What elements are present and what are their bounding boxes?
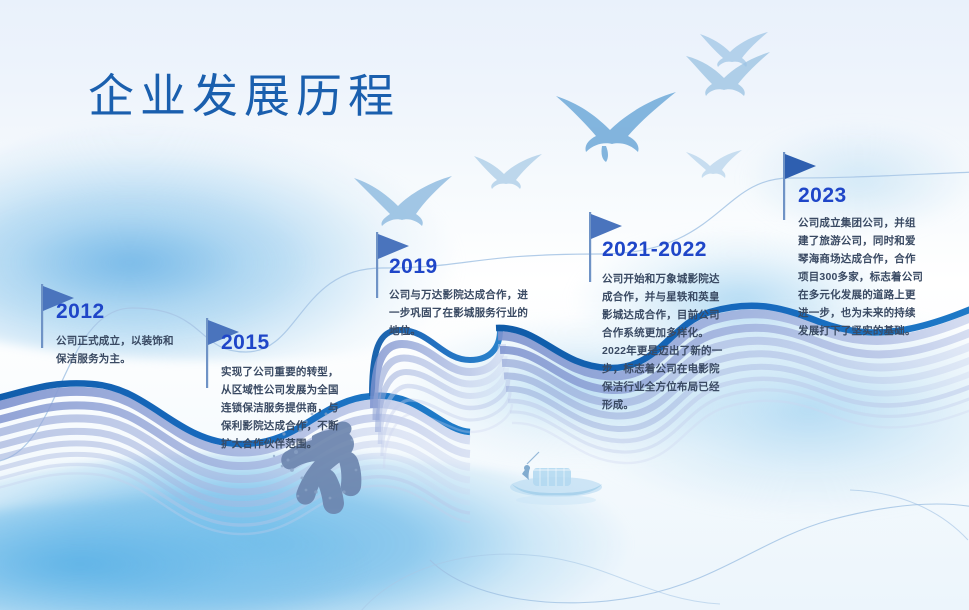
mountain-wash-bottom-left-inner: [0, 500, 500, 610]
seagull-icon-small-left: [474, 154, 542, 189]
milestone-year-2019: 2019: [389, 255, 438, 279]
milestone-description-2021-2022: 公司开始和万象城影院达成合作，并与星轶和英皇影城达成合作，目前公司合作系统更加多…: [602, 270, 730, 414]
milestone-description-2015: 实现了公司重要的转型，从区域性公司发展为全国连锁保洁服务提供商，与保利影院达成合…: [221, 363, 349, 453]
mountain-wash-bottom-left: [0, 452, 740, 610]
seagull-icon-top-right: [700, 32, 768, 67]
milestone-description-2019: 公司与万达影院达成合作，进一步巩固了在影城服务行业的地位。: [389, 286, 531, 340]
milestone-description-2023: 公司成立集团公司，并组建了旅游公司，同时和爱琴海商场达成合作，合作项目300多家…: [798, 214, 926, 340]
seagull-icon-upper-right: [686, 52, 770, 96]
milestone-year-2012: 2012: [56, 300, 105, 324]
milestone-year-2023: 2023: [798, 184, 847, 208]
timeline-poster: 企业发展历程 2012 公司正式成立，以装饰和保洁服务为主。 2015 实现了公…: [0, 0, 969, 610]
page-title: 企业发展历程: [88, 60, 400, 126]
milestone-description-2012: 公司正式成立，以装饰和保洁服务为主。: [56, 332, 182, 368]
seagull-icon-small-right: [686, 150, 742, 178]
milestone-year-2015: 2015: [221, 331, 270, 355]
milestone-year-2021-2022: 2021-2022: [602, 238, 707, 262]
seagull-icon-mid-left: [354, 176, 452, 226]
ribbon-twist-loop: [372, 330, 512, 468]
seagull-icon-large: [556, 92, 676, 162]
